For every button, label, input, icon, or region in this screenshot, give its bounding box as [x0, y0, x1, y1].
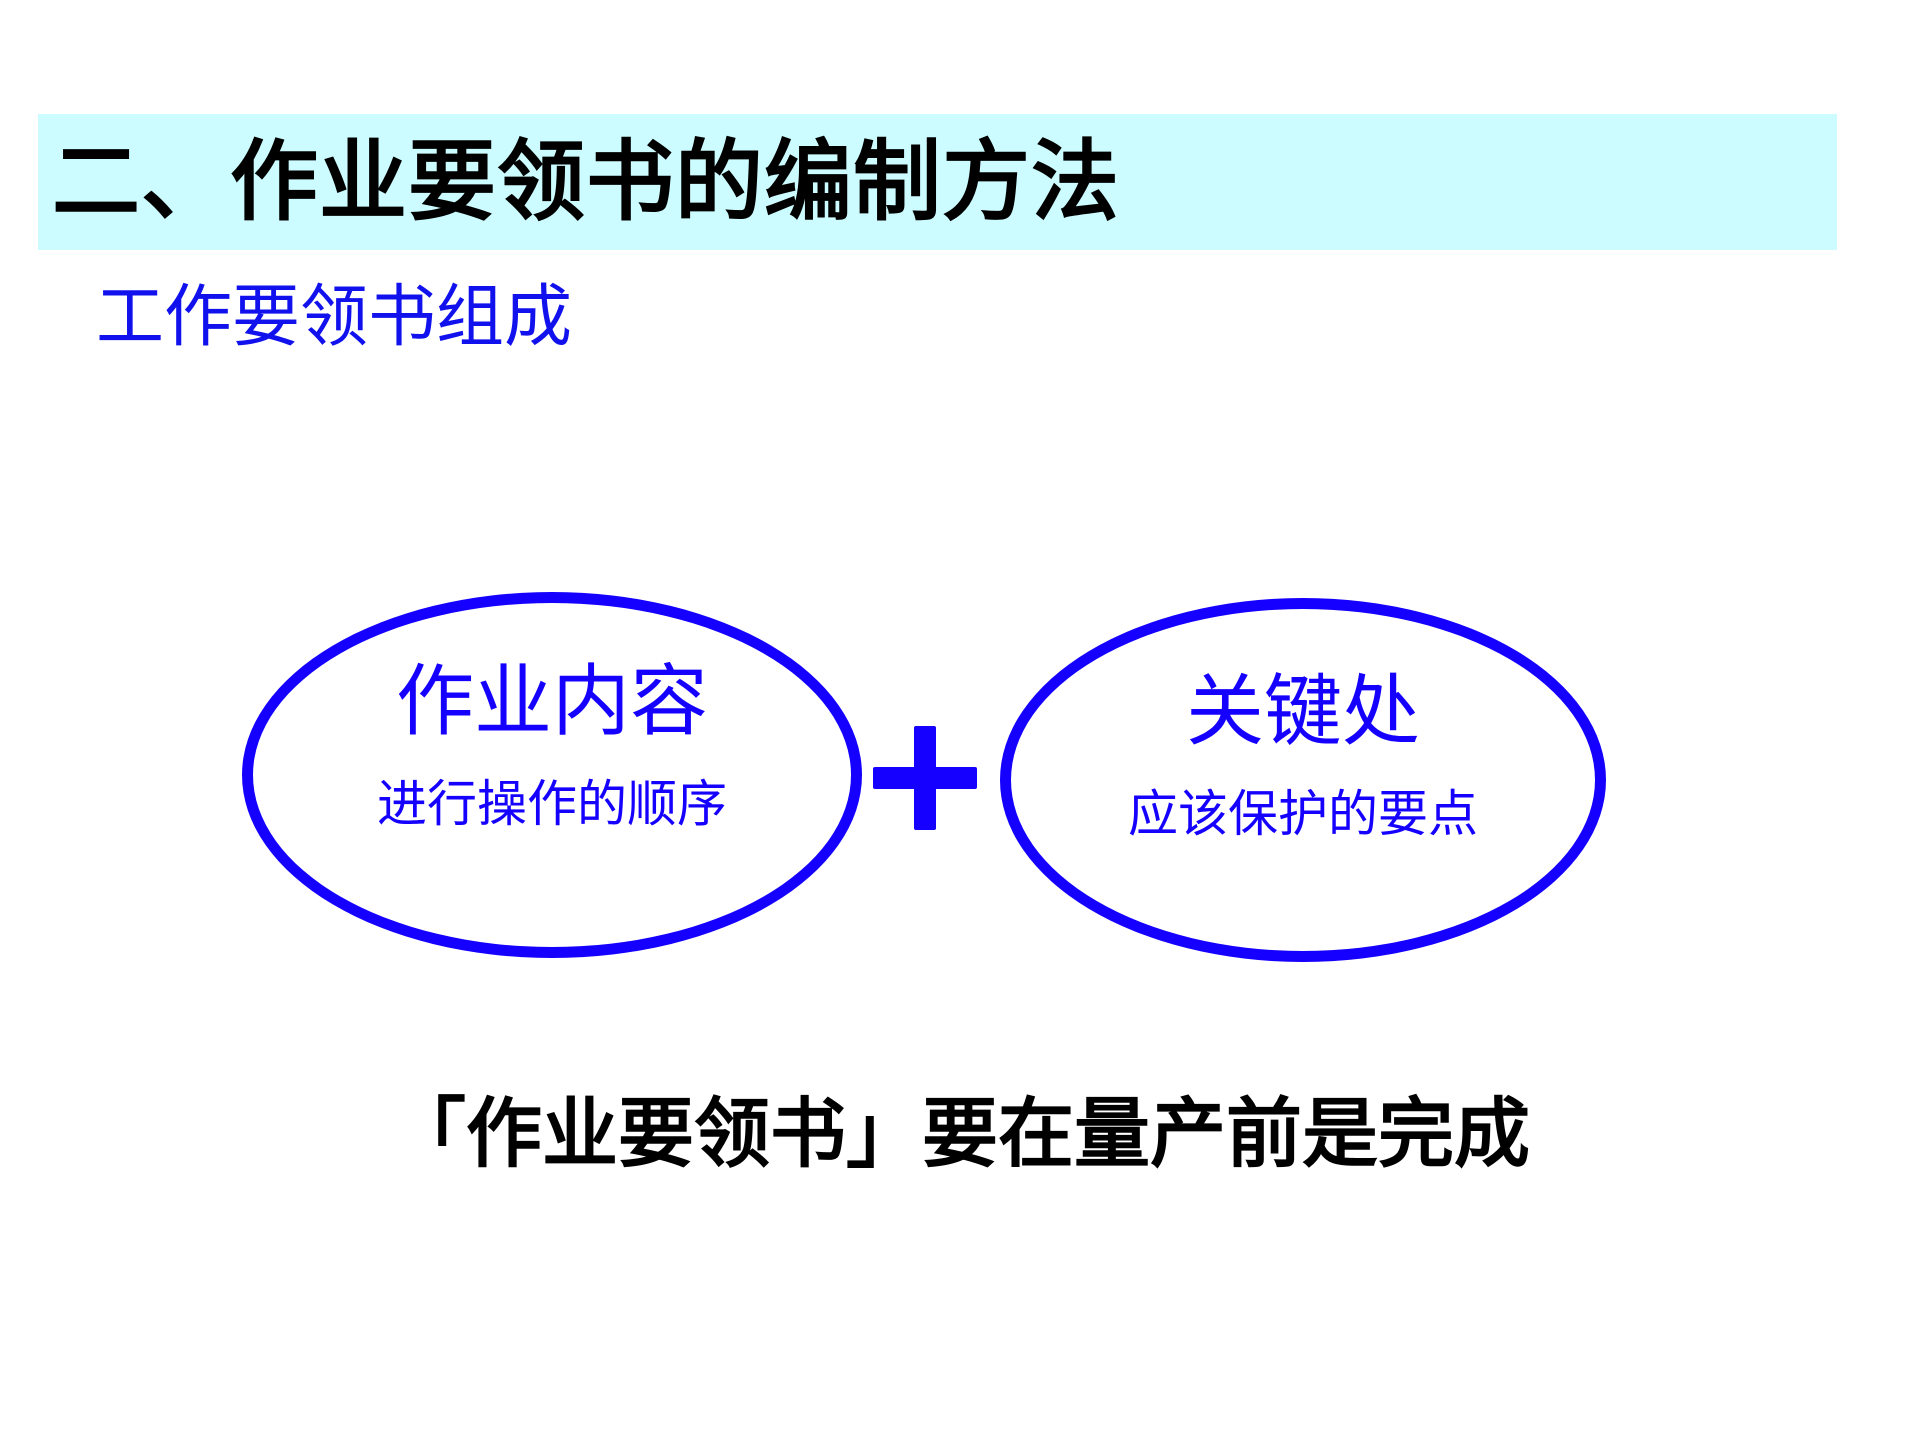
slide-canvas: 二、作业要领书的编制方法 工作要领书组成 作业内容 进行操作的顺序 关键处 应该…	[0, 0, 1920, 1440]
node-sub-label: 进行操作的顺序	[253, 779, 851, 829]
node-sub-label: 应该保护的要点	[1011, 789, 1595, 839]
title-banner: 二、作业要领书的编制方法	[38, 114, 1837, 250]
diagram-node-work-content: 作业内容 进行操作的顺序	[242, 592, 862, 958]
plus-icon	[873, 726, 977, 830]
footer-statement: 「作业要领书」要在量产前是完成	[0, 1093, 1920, 1177]
section-subheading: 工作要领书组成	[96, 283, 572, 351]
diagram-node-key-point: 关键处 应该保护的要点	[1000, 598, 1606, 962]
node-main-label: 作业内容	[253, 663, 851, 741]
node-main-label: 关键处	[1011, 673, 1595, 751]
plus-icon-vertical-bar	[914, 726, 936, 830]
plus-icon-horizontal-bar	[873, 767, 977, 789]
page-title: 二、作业要领书的编制方法	[52, 138, 1120, 226]
